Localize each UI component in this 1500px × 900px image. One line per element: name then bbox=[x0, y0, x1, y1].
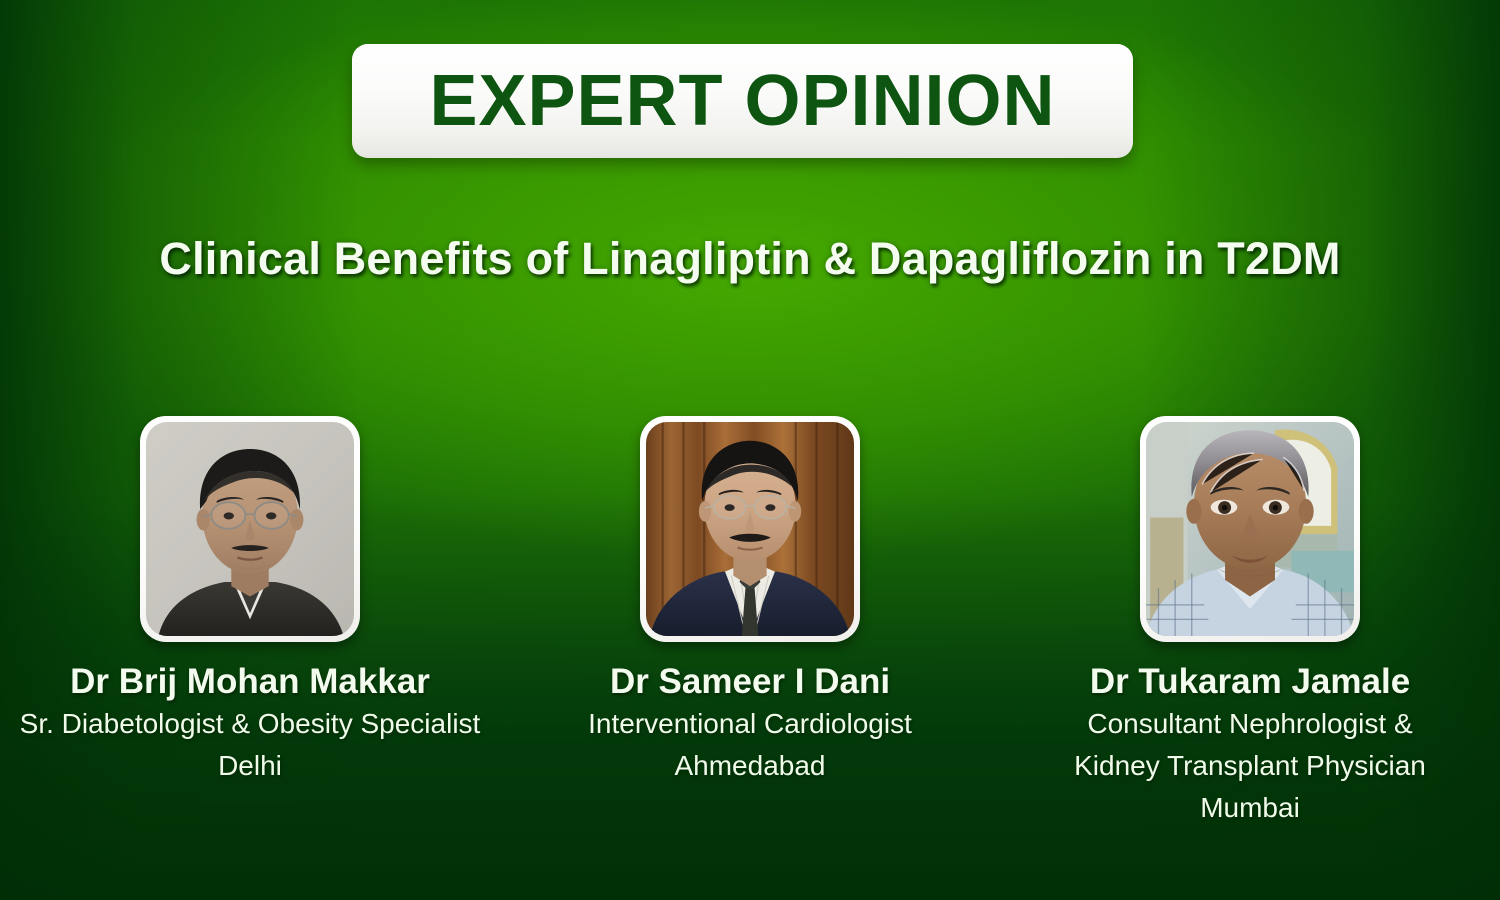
expert-details: Consultant Nephrologist & Kidney Transpl… bbox=[1074, 703, 1426, 829]
expert-detail-line: Sr. Diabetologist & Obesity Specialist bbox=[20, 703, 481, 745]
avatar-2 bbox=[646, 422, 854, 636]
avatar-3 bbox=[1146, 422, 1354, 636]
expert-detail-line: Interventional Cardiologist bbox=[588, 703, 912, 745]
expert-detail-line: Consultant Nephrologist & bbox=[1074, 703, 1426, 745]
photo-frame-2 bbox=[640, 416, 860, 642]
expert-name: Dr Sameer I Dani bbox=[610, 662, 890, 701]
expert-card-2: Dr Sameer I Dani Interventional Cardiolo… bbox=[500, 416, 1000, 829]
expert-detail-line: Kidney Transplant Physician bbox=[1074, 745, 1426, 787]
expert-name: Dr Brij Mohan Makkar bbox=[70, 662, 430, 701]
photo-frame-3 bbox=[1140, 416, 1360, 642]
expert-detail-line: Ahmedabad bbox=[588, 745, 912, 787]
expert-opinion-banner: EXPERT OPINION bbox=[352, 44, 1133, 158]
expert-detail-line: Mumbai bbox=[1074, 787, 1426, 829]
experts-row: Dr Brij Mohan Makkar Sr. Diabetologist &… bbox=[0, 416, 1500, 829]
photo-frame-1 bbox=[140, 416, 360, 642]
banner-title: EXPERT OPINION bbox=[429, 65, 1055, 137]
expert-opinion-slide: EXPERT OPINION Clinical Benefits of Lina… bbox=[0, 0, 1500, 900]
expert-details: Sr. Diabetologist & Obesity Specialist D… bbox=[20, 703, 481, 787]
expert-card-3: Dr Tukaram Jamale Consultant Nephrologis… bbox=[1000, 416, 1500, 829]
expert-card-1: Dr Brij Mohan Makkar Sr. Diabetologist &… bbox=[0, 416, 500, 829]
expert-details: Interventional Cardiologist Ahmedabad bbox=[588, 703, 912, 787]
expert-name: Dr Tukaram Jamale bbox=[1090, 662, 1410, 701]
page-title: Clinical Benefits of Linagliptin & Dapag… bbox=[0, 233, 1500, 285]
avatar-1 bbox=[146, 422, 354, 636]
expert-detail-line: Delhi bbox=[20, 745, 481, 787]
